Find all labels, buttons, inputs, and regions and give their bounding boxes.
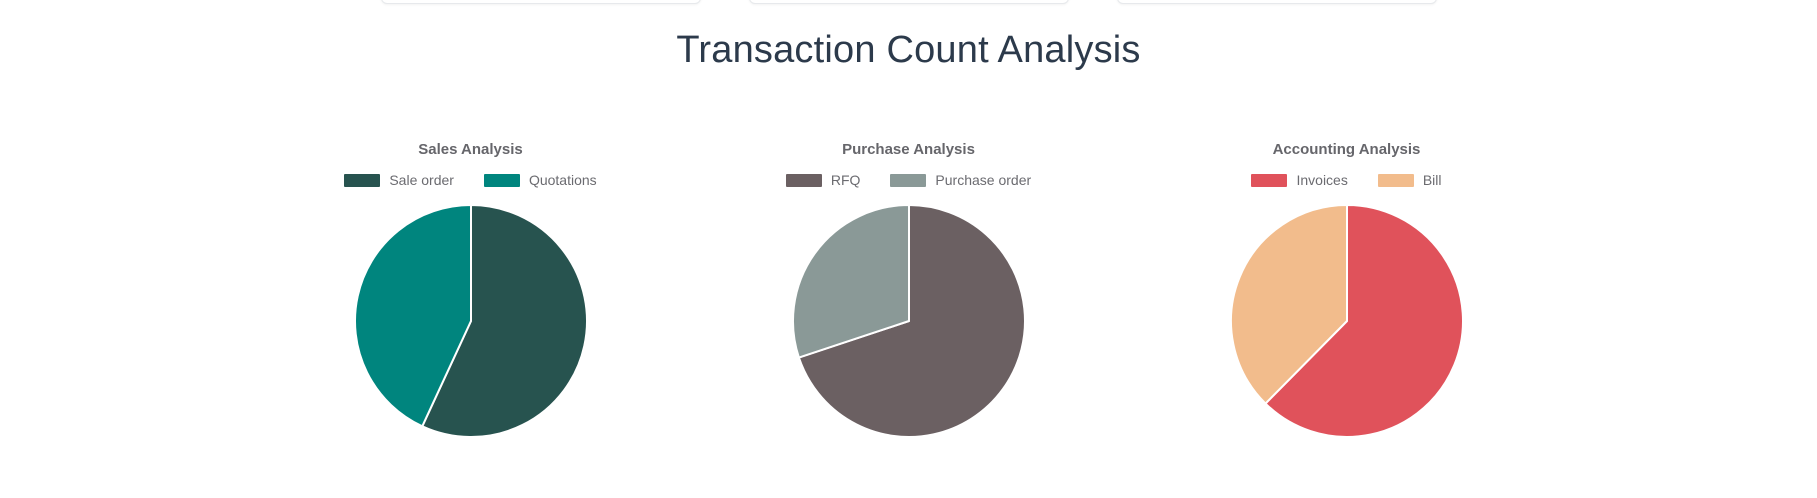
- legend-swatch-bill: [1378, 174, 1414, 187]
- legend-item-quotations[interactable]: Quotations: [484, 172, 597, 188]
- page-title: Transaction Count Analysis: [0, 24, 1817, 76]
- pie-svg-purchase-analysis: [791, 203, 1027, 439]
- legend-item-invoices[interactable]: Invoices: [1251, 172, 1347, 188]
- legend-label-sale-order: Sale order: [389, 172, 454, 188]
- charts-row: Sales Analysis Sale order Quotations Pur…: [0, 140, 1817, 439]
- chart-card-sales-analysis: Sales Analysis Sale order Quotations: [252, 140, 690, 439]
- top-card-3[interactable]: [1117, 0, 1437, 4]
- chart-card-purchase-analysis: Purchase Analysis RFQ Purchase order: [690, 140, 1128, 439]
- legend-swatch-sale-order: [344, 174, 380, 187]
- legend-swatch-purchase-order: [890, 174, 926, 187]
- chart-title-purchase-analysis: Purchase Analysis: [842, 140, 975, 160]
- chart-title-accounting-analysis: Accounting Analysis: [1273, 140, 1421, 160]
- pie-svg-accounting-analysis: [1229, 203, 1465, 439]
- legend-sales-analysis: Sale order Quotations: [344, 171, 596, 189]
- legend-item-sale-order[interactable]: Sale order: [344, 172, 454, 188]
- legend-item-purchase-order[interactable]: Purchase order: [890, 172, 1031, 188]
- legend-label-purchase-order: Purchase order: [935, 172, 1031, 188]
- legend-swatch-invoices: [1251, 174, 1287, 187]
- pie-chart-accounting-analysis[interactable]: [1229, 203, 1465, 439]
- top-card-1[interactable]: [381, 0, 701, 4]
- top-card-2[interactable]: [749, 0, 1069, 4]
- chart-title-sales-analysis: Sales Analysis: [418, 140, 523, 160]
- legend-label-bill: Bill: [1423, 172, 1442, 188]
- legend-item-bill[interactable]: Bill: [1378, 172, 1442, 188]
- legend-label-invoices: Invoices: [1296, 172, 1347, 188]
- legend-accounting-analysis: Invoices Bill: [1251, 171, 1441, 189]
- legend-purchase-analysis: RFQ Purchase order: [786, 171, 1031, 189]
- pie-svg-sales-analysis: [353, 203, 589, 439]
- legend-swatch-rfq: [786, 174, 822, 187]
- dashboard-page: Transaction Count Analysis Sales Analysi…: [0, 0, 1817, 498]
- top-cards-strip: [0, 0, 1817, 2]
- chart-card-accounting-analysis: Accounting Analysis Invoices Bill: [1128, 140, 1566, 439]
- legend-label-rfq: RFQ: [831, 172, 861, 188]
- pie-chart-purchase-analysis[interactable]: [791, 203, 1027, 439]
- legend-label-quotations: Quotations: [529, 172, 597, 188]
- legend-swatch-quotations: [484, 174, 520, 187]
- legend-item-rfq[interactable]: RFQ: [786, 172, 861, 188]
- pie-chart-sales-analysis[interactable]: [353, 203, 589, 439]
